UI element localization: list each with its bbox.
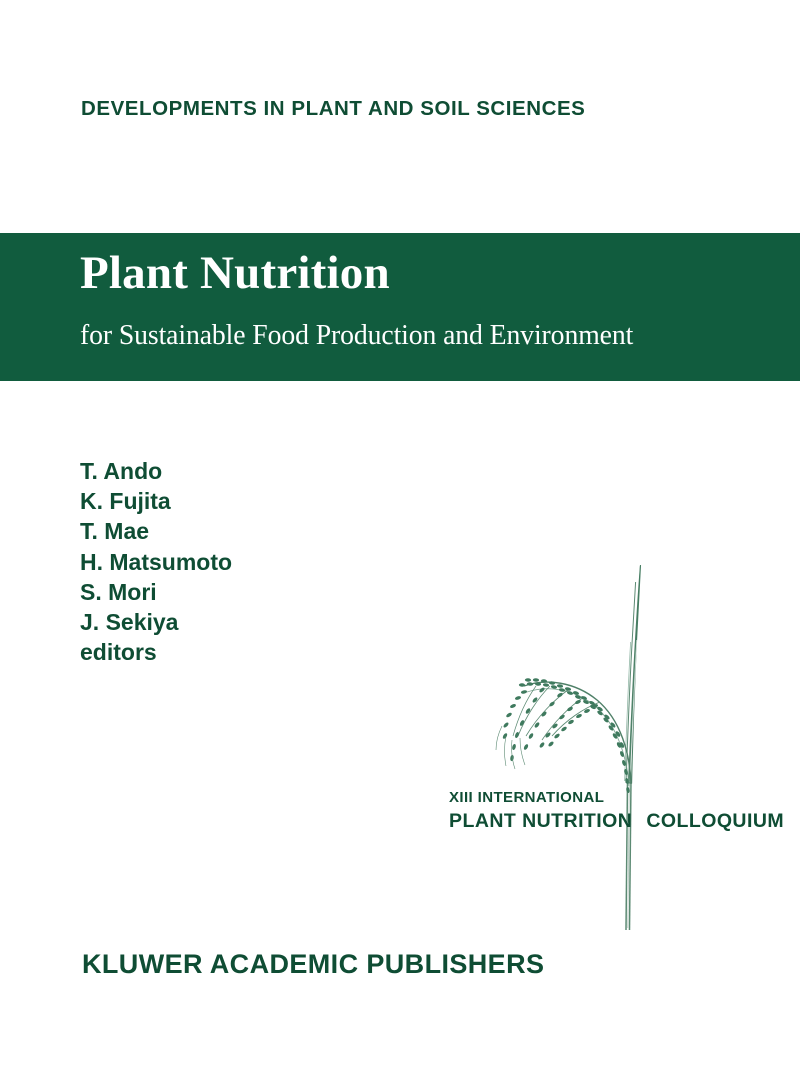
colloquium-line-1: XIII INTERNATIONAL [449,789,784,806]
colloquium-line-2: PLANT NUTRITIONCOLLOQUIUM [449,810,784,833]
editor-name: J. Sekiya [80,607,232,637]
title-band: Plant Nutrition for Sustainable Food Pro… [0,233,800,381]
colloquium-block: XIII INTERNATIONAL PLANT NUTRITIONCOLLOQ… [449,789,784,833]
publisher-name: KLUWER ACADEMIC PUBLISHERS [82,949,544,980]
editor-name: T. Ando [80,456,232,486]
page-subtitle: for Sustainable Food Production and Envi… [80,321,633,350]
rice-plant-illustration [480,540,710,940]
editors-role-label: editors [80,637,232,667]
plant-panicle [496,678,631,793]
editor-name: T. Mae [80,516,232,546]
colloquium-line-2-right: COLLOQUIUM [646,810,784,832]
book-cover: DEVELOPMENTS IN PLANT AND SOIL SCIENCES … [0,0,800,1076]
editor-name: H. Matsumoto [80,547,232,577]
page-title: Plant Nutrition [80,250,390,297]
editor-name: S. Mori [80,577,232,607]
colloquium-line-2-left: PLANT NUTRITION [449,810,632,832]
editors-list: T. Ando K. Fujita T. Mae H. Matsumoto S.… [80,456,232,667]
editor-name: K. Fujita [80,486,232,516]
series-title: DEVELOPMENTS IN PLANT AND SOIL SCIENCES [81,97,585,121]
